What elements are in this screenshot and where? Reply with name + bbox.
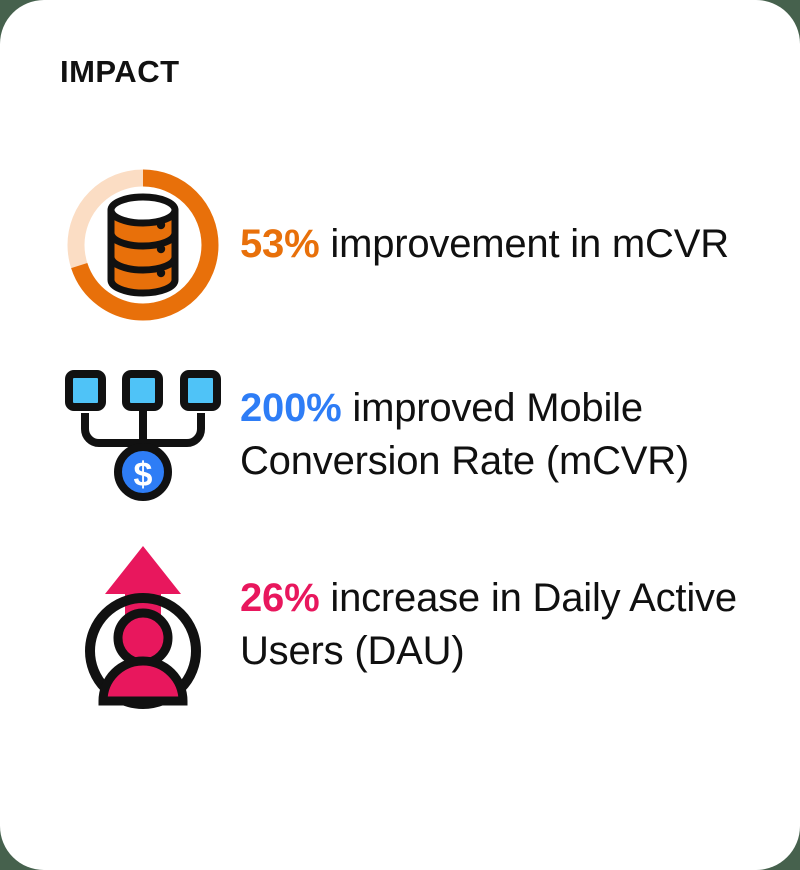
impact-card: IMPACT: [0, 0, 800, 870]
conversion-funnel-dollar-icon: $: [58, 348, 228, 523]
stat-value: 26%: [240, 576, 319, 620]
stat-value: 200%: [240, 386, 342, 430]
list-item-text: 26% increase in Daily Active Users (DAU): [240, 572, 760, 678]
user-growth-arrow-icon: [58, 538, 228, 713]
list-item: 26% increase in Daily Active Users (DAU): [0, 530, 800, 720]
database-donut-icon: [58, 158, 228, 333]
impact-list: 53% improvement in mCVR $: [0, 150, 800, 720]
list-item: 53% improvement in mCVR: [0, 150, 800, 340]
list-item-text: 53% improvement in mCVR: [240, 218, 729, 271]
list-item: $ 200% improved Mobile Conversion Rate (…: [0, 340, 800, 530]
list-item-text: 200% improved Mobile Conversion Rate (mC…: [240, 382, 760, 488]
stat-value: 53%: [240, 222, 319, 266]
page-title: IMPACT: [60, 56, 180, 87]
stat-description: improvement in mCVR: [319, 222, 728, 266]
svg-text:$: $: [134, 456, 153, 494]
